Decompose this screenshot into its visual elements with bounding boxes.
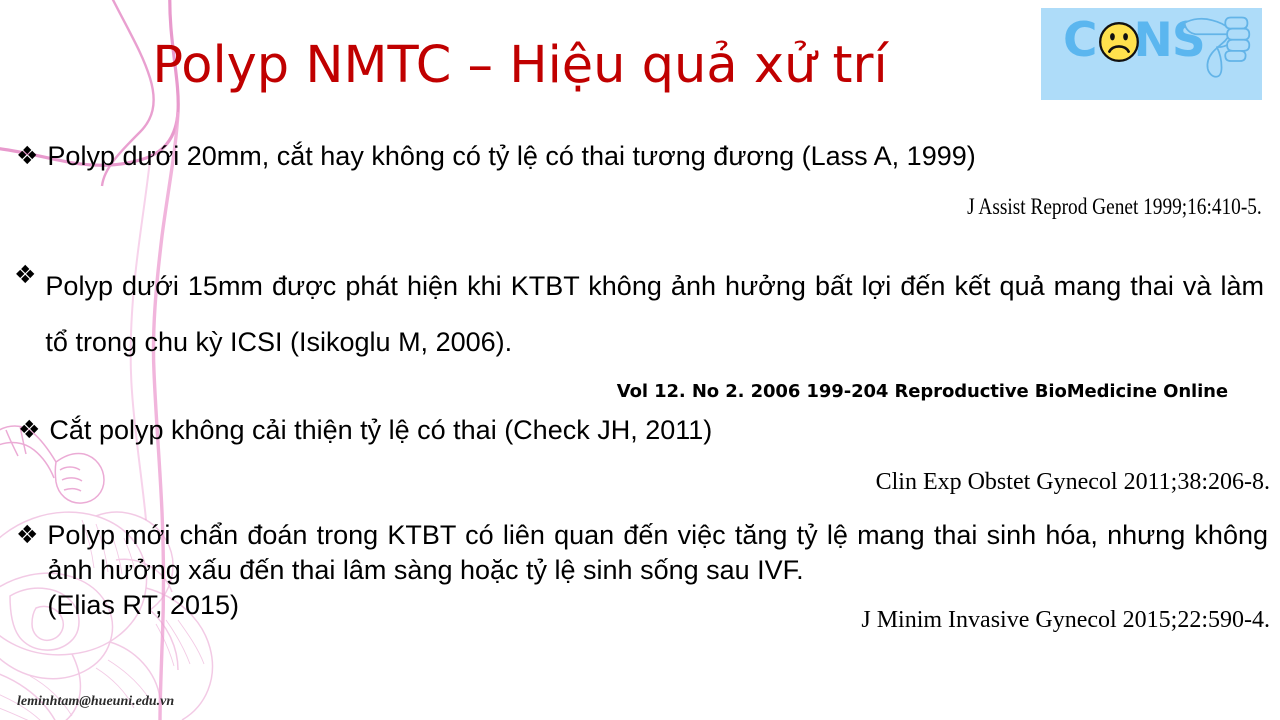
bullet-diamond-icon: ❖ — [18, 413, 40, 447]
list-item-text: Polyp dưới 20mm, cắt hay không có tỷ lệ … — [47, 139, 1246, 173]
bullet-diamond-icon: ❖ — [16, 518, 38, 552]
list-item-text: Polyp dưới 15mm được phát hiện khi KTBT … — [45, 258, 1264, 370]
slide-canvas: CNS Polyp NMTC – Hiệu quả xử trí ❖ Polyp… — [0, 0, 1280, 720]
list-item-text: Cắt polyp không cải thiện tỷ lệ có thai … — [49, 413, 1248, 447]
slide-body: ❖ Polyp dưới 20mm, cắt hay không có tỷ l… — [0, 0, 1280, 720]
footer-email: leminhtam@hueuni.edu.vn — [17, 694, 174, 710]
bullet-diamond-icon: ❖ — [16, 139, 38, 173]
citation-reference: J Minim Invasive Gynecol 2015;22:590-4. — [861, 607, 1270, 634]
citation-reference: Clin Exp Obstet Gynecol 2011;38:206-8. — [876, 469, 1270, 496]
list-item: ❖ Cắt polyp không cải thiện tỷ lệ có tha… — [18, 413, 1248, 447]
list-item: ❖ Polyp dưới 20mm, cắt hay không có tỷ l… — [16, 139, 1246, 173]
list-item: ❖ Polyp dưới 15mm được phát hiện khi KTB… — [14, 258, 1264, 370]
citation-reference: Vol 12. No 2. 2006 199-204 Reproductive … — [617, 381, 1228, 402]
list-item-line: Polyp mới chẩn đoán trong KTBT có liên q… — [47, 520, 1268, 585]
bullet-diamond-icon: ❖ — [14, 258, 36, 292]
citation-reference: J Assist Reprod Genet 1999;16:410-5. — [967, 194, 1262, 220]
